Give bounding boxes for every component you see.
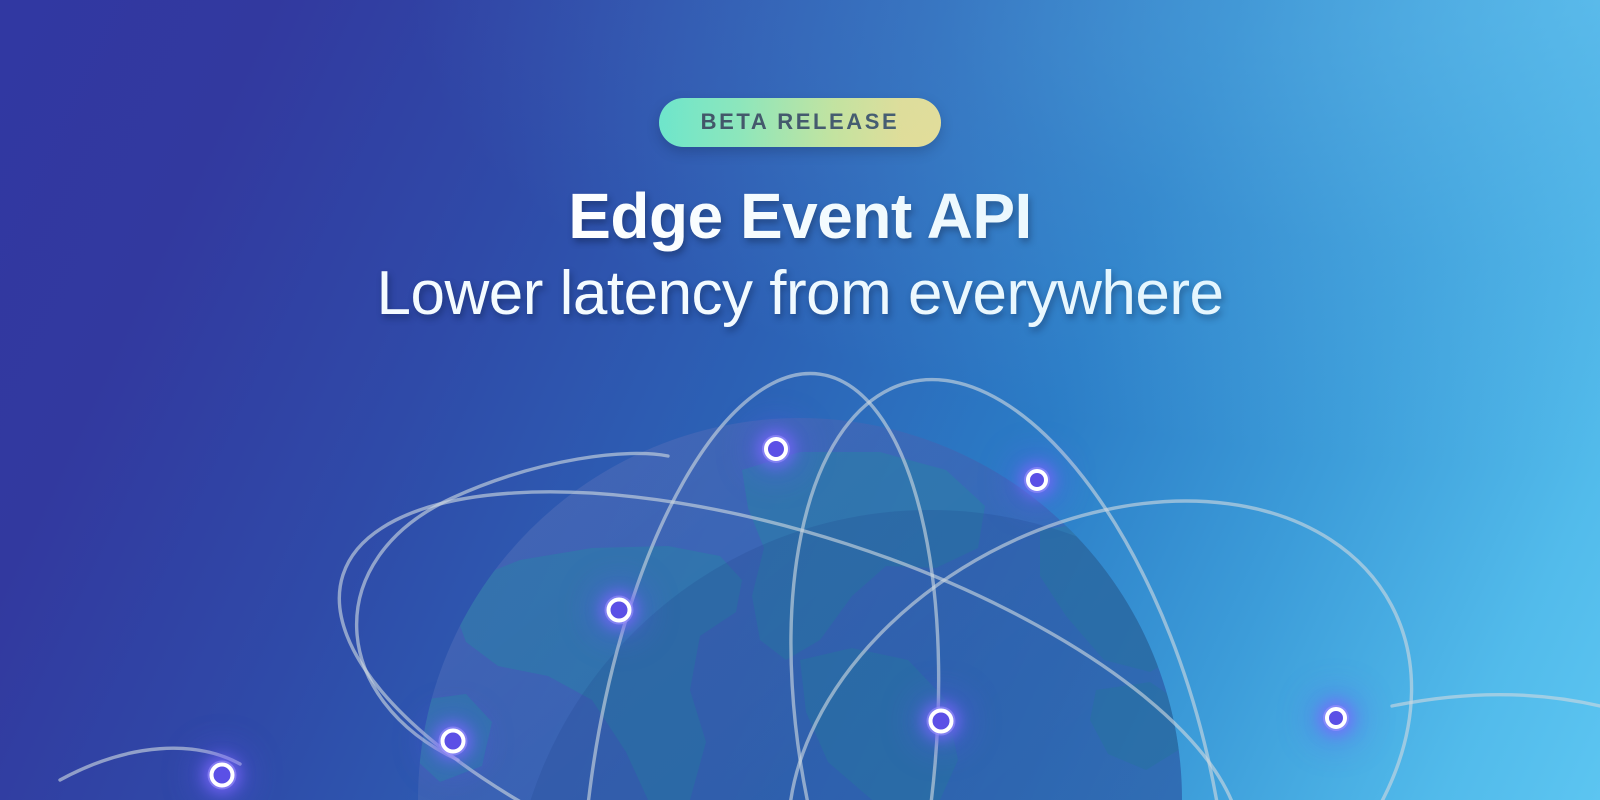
hero-banner: BETA RELEASE Edge Event API Lower latenc… — [0, 0, 1600, 800]
page-title: Edge Event API — [0, 183, 1600, 250]
beta-release-badge[interactable]: BETA RELEASE — [659, 98, 942, 147]
hero-content: BETA RELEASE Edge Event API Lower latenc… — [0, 0, 1600, 800]
page-subtitle: Lower latency from everywhere — [0, 260, 1600, 328]
